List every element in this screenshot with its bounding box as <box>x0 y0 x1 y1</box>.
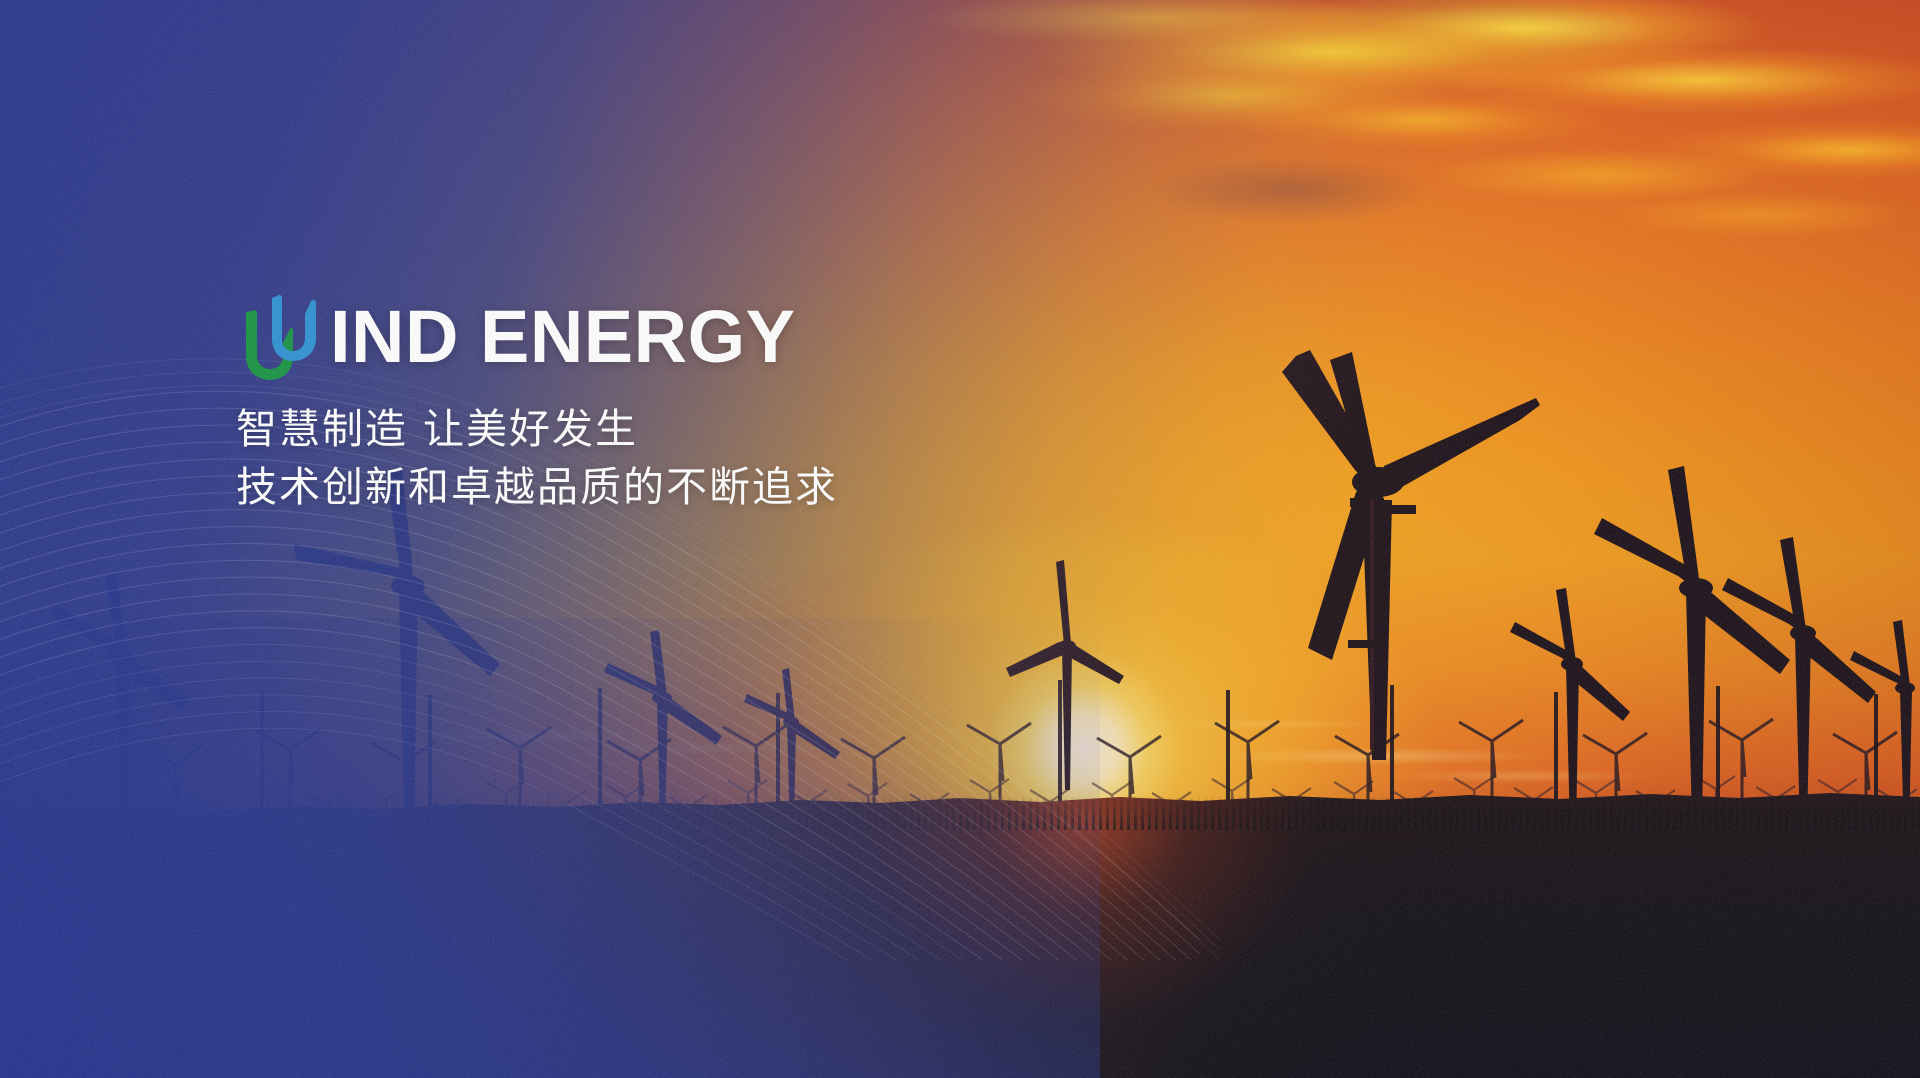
hero-banner: IND ENERGY 智慧制造 让美好发生 技术创新和卓越品质的不断追求 <box>0 0 1920 1078</box>
logo-lockup: IND ENERGY <box>236 294 1136 380</box>
wind-double-swoosh-logo-icon <box>236 294 328 380</box>
brand-block: IND ENERGY 智慧制造 让美好发生 技术创新和卓越品质的不断追求 <box>236 294 1136 516</box>
tagline-line-2: 技术创新和卓越品质的不断追求 <box>236 458 1136 516</box>
tagline-block: 智慧制造 让美好发生 技术创新和卓越品质的不断追求 <box>236 400 1136 516</box>
logo-wordmark: IND ENERGY <box>330 294 796 380</box>
tagline-line-1: 智慧制造 让美好发生 <box>236 400 1136 458</box>
